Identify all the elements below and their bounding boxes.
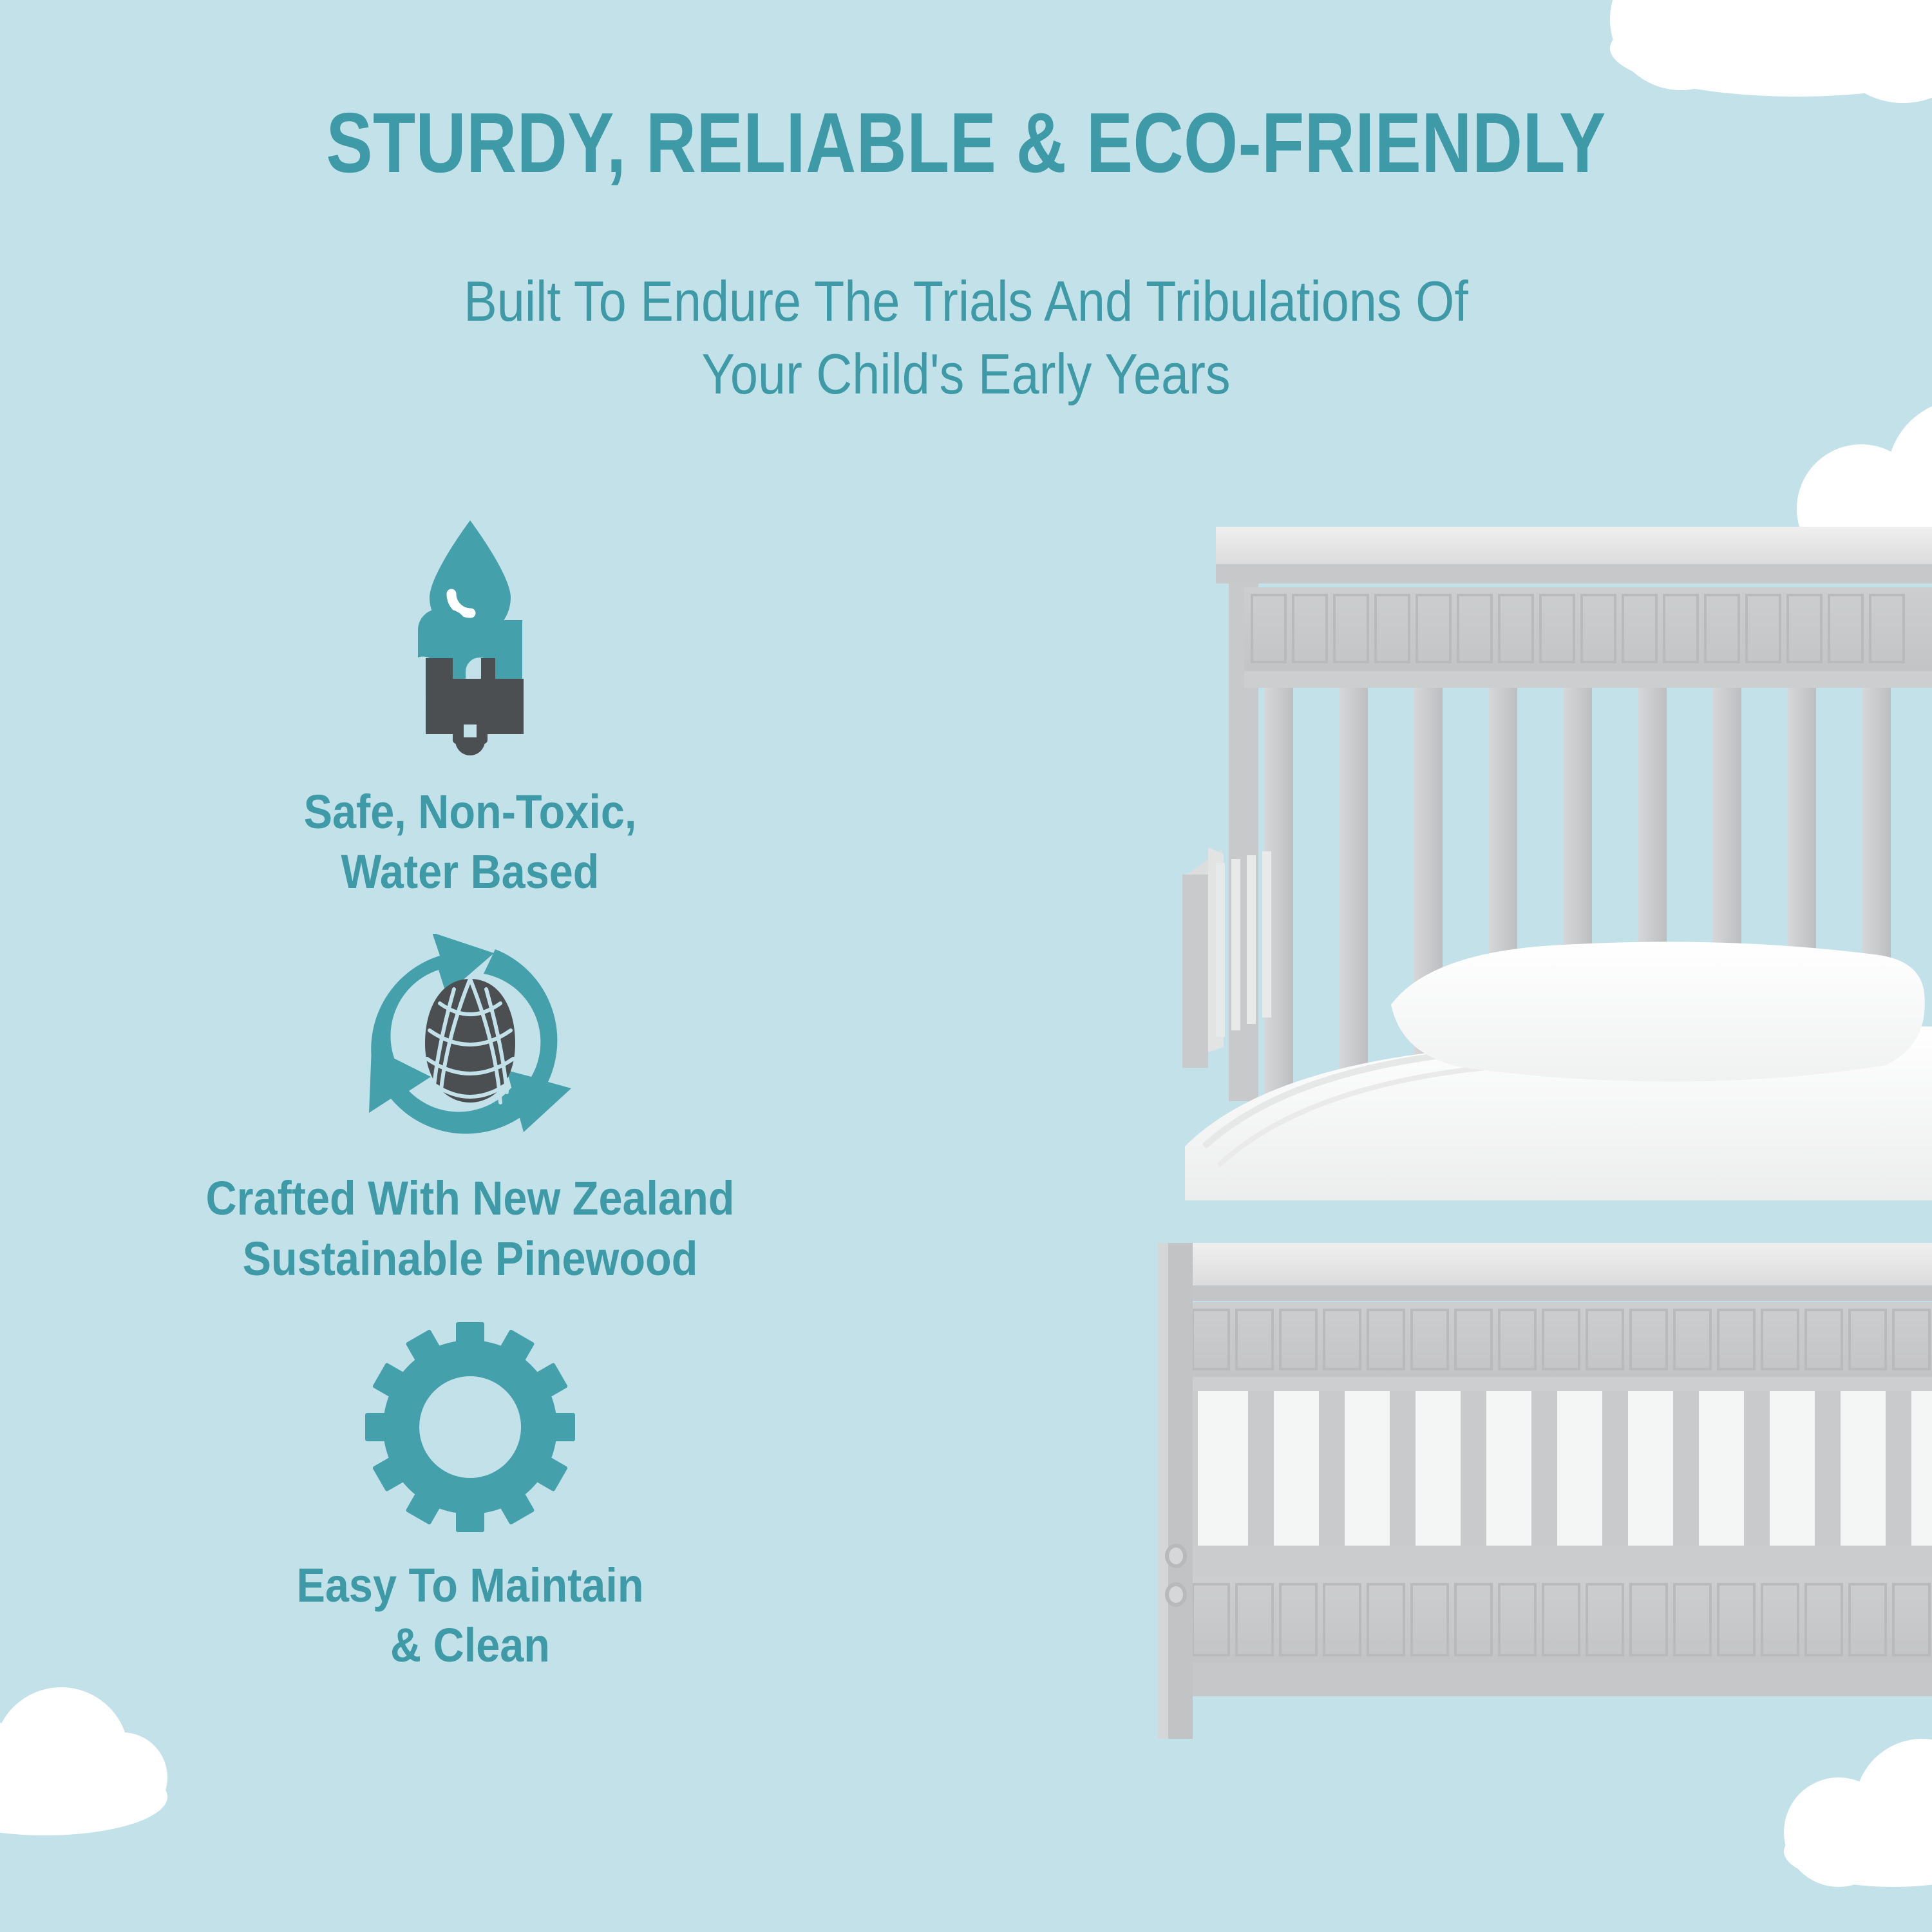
feature-label-line-1: Crafted With New Zealand — [206, 1171, 735, 1225]
feature-item-sustainable-pinewood: Crafted With New Zealand Sustainable Pin… — [39, 934, 902, 1288]
feature-item-easy-maintain: Easy To Maintain & Clean — [39, 1321, 902, 1675]
page-title: STURDY, RELIABLE & ECO-FRIENDLY — [174, 100, 1758, 187]
feature-label-sustainable-pinewood: Crafted With New Zealand Sustainable Pin… — [82, 1168, 858, 1288]
product-image-toddler-bed — [992, 515, 1932, 1739]
subtitle-line-2: Your Child's Early Years — [116, 338, 1816, 411]
pillow — [1391, 942, 1925, 1081]
header-block: STURDY, RELIABLE & ECO-FRIENDLY — [0, 100, 1932, 187]
paintbrush-water-drop-icon — [390, 515, 551, 760]
promo-banner: STURDY, RELIABLE & ECO-FRIENDLY Built To… — [0, 0, 1932, 1932]
feature-item-safe-non-toxic: Safe, Non-Toxic, Water Based — [39, 515, 902, 902]
recycle-pinecone-icon — [357, 934, 583, 1146]
feature-label-line-1: Easy To Maintain — [296, 1558, 643, 1612]
feature-label-line-1: Safe, Non-Toxic, — [304, 785, 637, 838]
cloud-bottom-right — [1784, 1739, 1932, 1887]
front-upper-bead-panel — [1185, 1302, 1932, 1377]
feature-label-safe-non-toxic: Safe, Non-Toxic, Water Based — [82, 782, 858, 902]
feature-label-line-2: Water Based — [82, 842, 858, 902]
feature-label-line-2: Sustainable Pinewood — [82, 1229, 858, 1289]
gear-icon — [364, 1321, 576, 1533]
page-subtitle: Built To Endure The Trials And Tribulati… — [116, 265, 1816, 410]
cloud-bottom-left — [0, 1687, 155, 1848]
subtitle-line-1: Built To Endure The Trials And Tribulati… — [116, 265, 1816, 338]
cloud-top-right — [1610, 0, 1932, 116]
feature-list: Safe, Non-Toxic, Water Based — [39, 515, 902, 1707]
front-lower-bead-panel — [1185, 1577, 1932, 1663]
feature-label-easy-maintain: Easy To Maintain & Clean — [82, 1555, 858, 1675]
front-rail-top-cap — [1159, 1243, 1932, 1285]
headboard-top-cap — [1216, 527, 1932, 564]
feature-label-line-2: & Clean — [82, 1615, 858, 1675]
